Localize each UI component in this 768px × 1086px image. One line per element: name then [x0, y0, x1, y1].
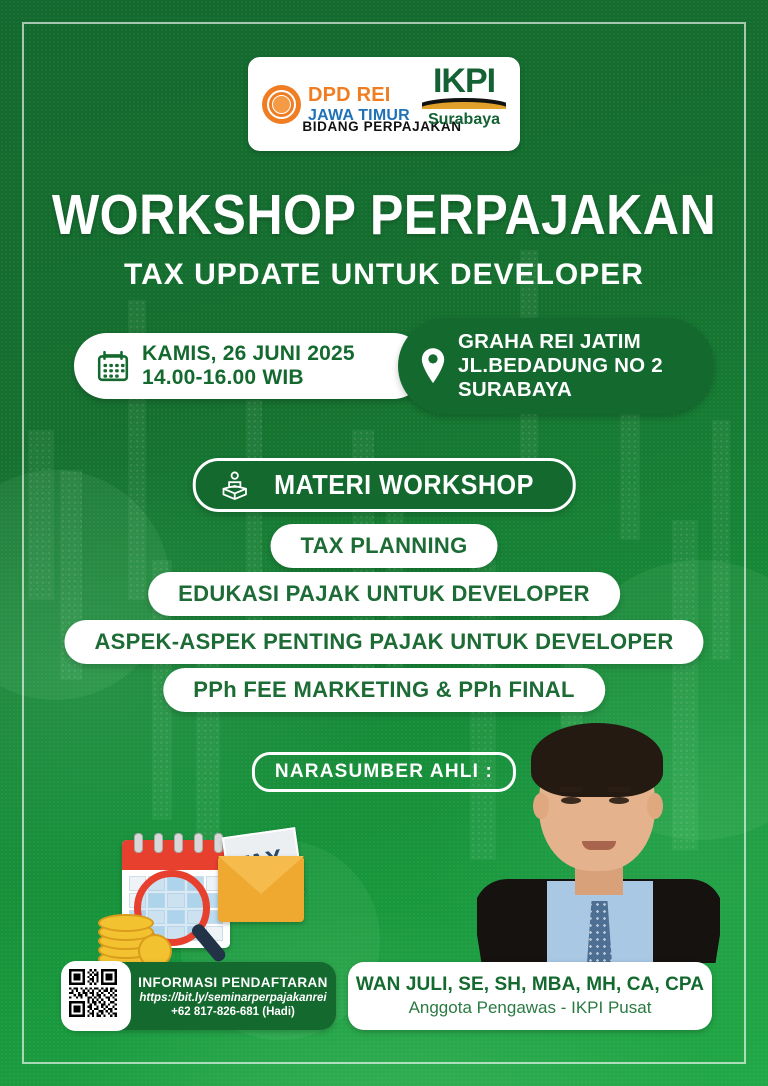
materi-heading-badge: MATERI WORKSHOP	[193, 458, 576, 512]
schedule-date: KAMIS, 26 JUNI 2025	[142, 342, 355, 366]
registration-phone[interactable]: +62 817-826-681 (Hadi)	[136, 1006, 330, 1018]
coins-illustration	[98, 912, 172, 966]
venue-line1: GRAHA REI JATIM	[458, 330, 663, 354]
speaker-name: WAN JULI, SE, SH, MBA, MH, CA, CPA	[356, 974, 704, 996]
venue-line2: JL.BEDADUNG NO 2	[458, 354, 663, 378]
ikpi-logo: IKPI Surabaya	[418, 65, 510, 143]
topic-pill: PPh FEE MARKETING & PPh FINAL	[163, 668, 605, 712]
person-reading-icon	[220, 470, 250, 500]
calendar-icon	[96, 349, 130, 383]
envelope-illustration	[218, 856, 304, 922]
registration-heading: INFORMASI PENDAFTARAN	[136, 975, 330, 990]
venue-pill: GRAHA REI JATIM JL.BEDADUNG NO 2 SURABAY…	[398, 318, 714, 414]
topic-pill: TAX PLANNING	[271, 524, 498, 568]
registration-info-box: INFORMASI PENDAFTARAN https://bit.ly/sem…	[62, 962, 336, 1030]
venue-line3: SURABAYA	[458, 378, 663, 402]
ikpi-city: Surabaya	[418, 111, 510, 129]
rei-emblem-icon	[262, 85, 301, 124]
speaker-role: Anggota Pengawas - IKPI Pusat	[409, 998, 652, 1018]
rei-line1: DPD REI	[308, 85, 410, 105]
tax-illustration: TAX	[98, 826, 313, 966]
poster: DPD REI JAWA TIMUR BIDANG PERPAJAKAN IKP…	[0, 0, 768, 1086]
materi-heading-label: MATERI WORKSHOP	[274, 469, 534, 501]
topic-pill: ASPEK-ASPEK PENTING PAJAK UNTUK DEVELOPE…	[64, 620, 703, 664]
speaker-name-box: WAN JULI, SE, SH, MBA, MH, CA, CPA Anggo…	[348, 962, 712, 1030]
organizer-logo-bar: DPD REI JAWA TIMUR BIDANG PERPAJAKAN IKP…	[248, 57, 520, 151]
speaker-photo	[477, 723, 720, 963]
schedule-pill: KAMIS, 26 JUNI 2025 14.00-16.00 WIB	[74, 333, 426, 399]
topic-pill: EDUKASI PAJAK UNTUK DEVELOPER	[148, 572, 620, 616]
page-subtitle: TAX UPDATE UNTUK DEVELOPER	[0, 258, 768, 292]
location-pin-icon	[418, 347, 448, 385]
schedule-time: 14.00-16.00 WIB	[142, 366, 355, 390]
dpd-rei-logo: DPD REI JAWA TIMUR	[248, 85, 410, 124]
page-title: WORKSHOP PERPAJAKAN	[46, 182, 722, 248]
ikpi-wave-icon	[422, 98, 506, 109]
qr-code[interactable]	[66, 966, 126, 1026]
registration-url[interactable]: https://bit.ly/seminarperpajakanrei	[136, 992, 330, 1004]
ikpi-name: IKPI	[418, 65, 510, 97]
